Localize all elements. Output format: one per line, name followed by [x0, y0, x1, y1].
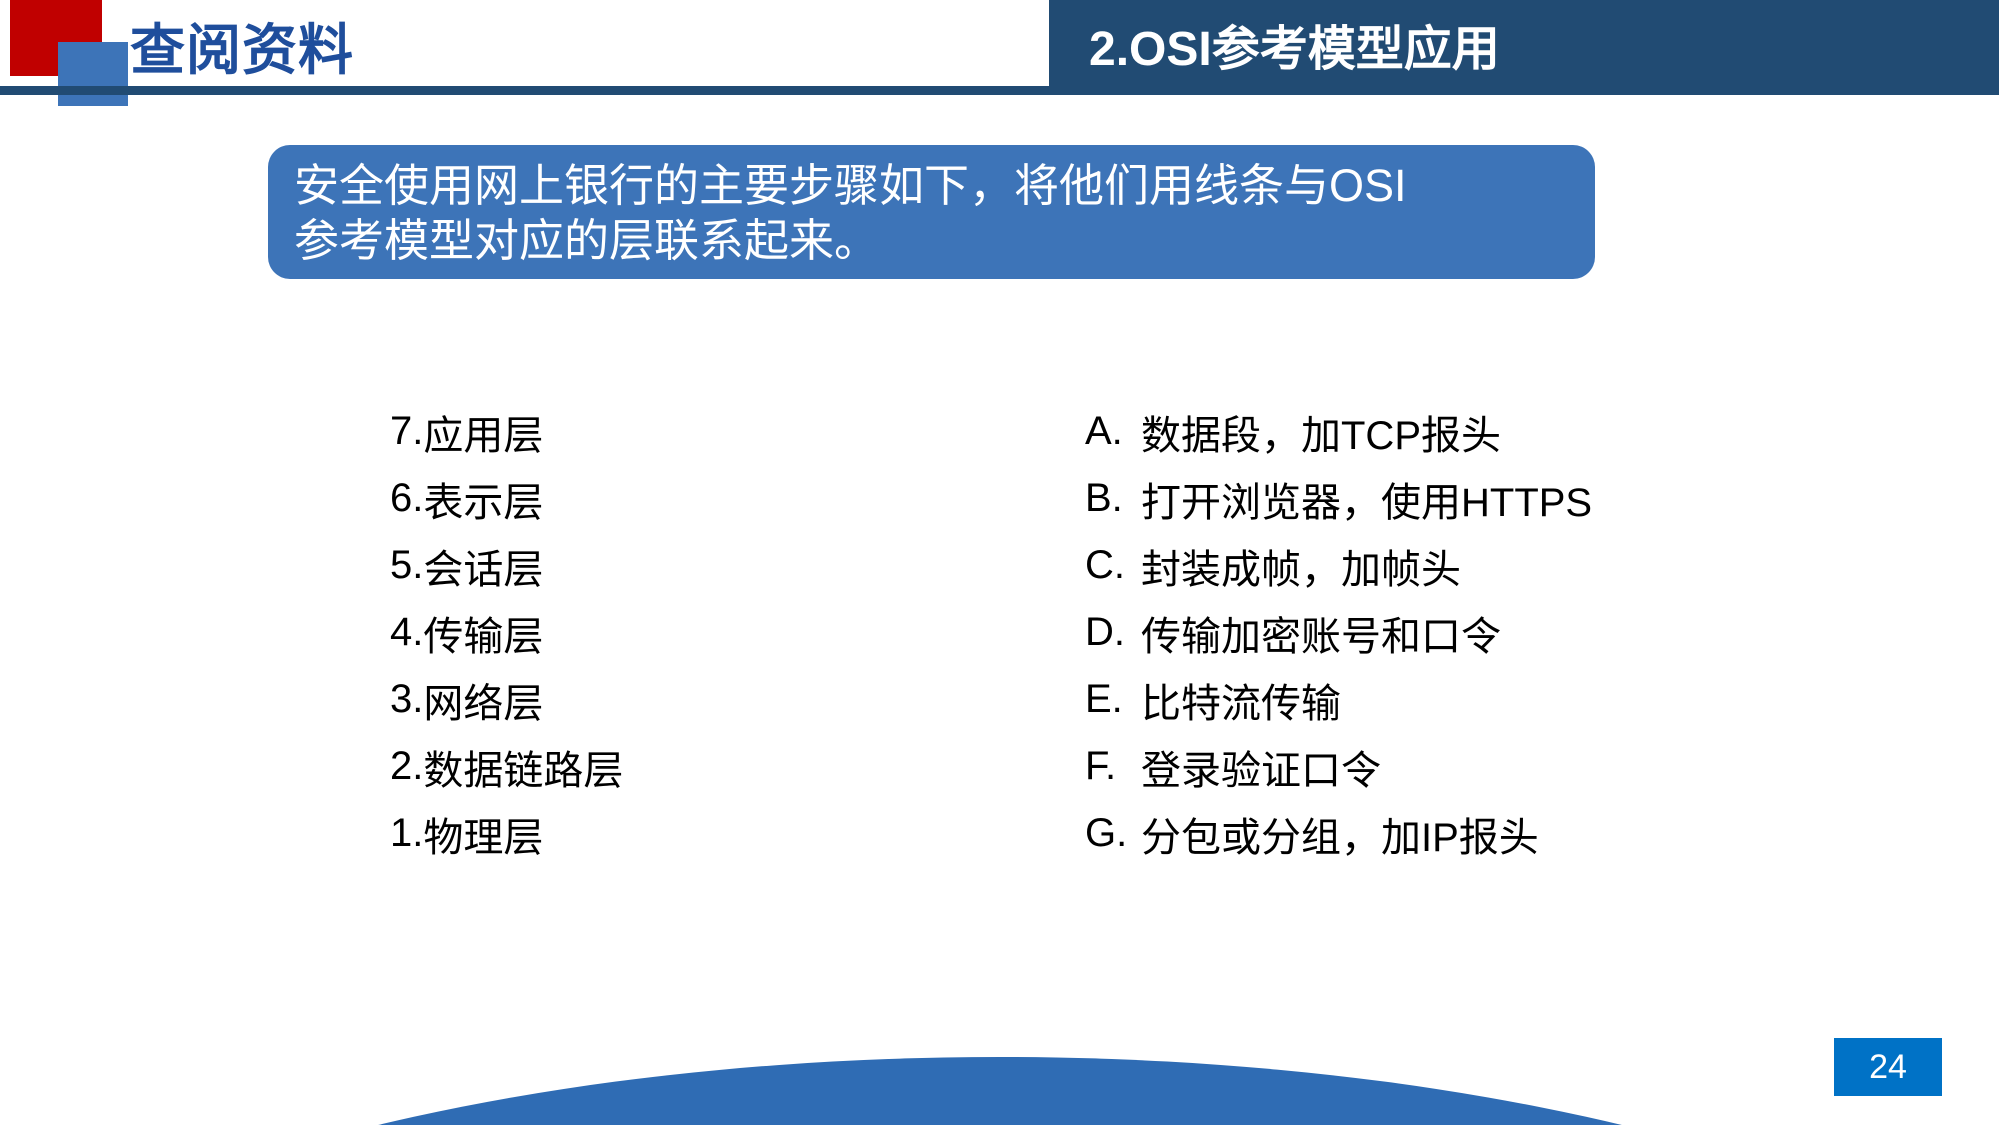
list-item-label: 网络层: [423, 671, 543, 729]
list-item-label: 封装成帧，加帧头: [1141, 537, 1461, 595]
list-item[interactable]: 4. 传输层: [390, 599, 1010, 666]
list-item-marker: A.: [1085, 409, 1141, 454]
list-item-marker: D.: [1085, 610, 1141, 655]
list-item-label: 传输层: [423, 604, 543, 662]
page-number-badge: 24: [1834, 1038, 1942, 1096]
list-item[interactable]: D. 传输加密账号和口令: [1085, 599, 1885, 666]
list-item-label: 会话层: [423, 537, 543, 595]
instruction-callout: 安全使用网上银行的主要步骤如下，将他们用线条与OSI 参考模型对应的层联系起来。: [268, 145, 1595, 279]
list-item-marker: 7.: [390, 409, 423, 454]
list-item-marker: 1.: [390, 811, 423, 856]
header-banner: 2.OSI参考模型应用: [1049, 0, 1999, 88]
list-item-label: 数据链路层: [423, 738, 623, 796]
list-item-label: 登录验证口令: [1141, 738, 1381, 796]
step-option-column: A. 数据段，加TCP报头 B. 打开浏览器，使用HTTPS C. 封装成帧，加…: [1085, 398, 1885, 867]
list-item-label: 数据段，加TCP报头: [1141, 403, 1501, 461]
header-divider: [0, 86, 1999, 95]
list-item-marker: E.: [1085, 677, 1141, 722]
instruction-line-2: 参考模型对应的层联系起来。: [294, 214, 1569, 269]
list-item[interactable]: 2. 数据链路层: [390, 733, 1010, 800]
list-item[interactable]: A. 数据段，加TCP报头: [1085, 398, 1885, 465]
list-item-label: 表示层: [423, 470, 543, 528]
list-item-marker: 4.: [390, 610, 423, 655]
list-item-marker: G.: [1085, 811, 1141, 856]
list-item-label: 传输加密账号和口令: [1141, 604, 1501, 662]
list-item-label: 打开浏览器，使用HTTPS: [1141, 470, 1592, 528]
decor-blue-square-icon: [58, 42, 128, 106]
list-item-marker: B.: [1085, 476, 1141, 521]
list-item[interactable]: 3. 网络层: [390, 666, 1010, 733]
list-item[interactable]: B. 打开浏览器，使用HTTPS: [1085, 465, 1885, 532]
osi-layer-column: 7. 应用层 6. 表示层 5. 会话层 4. 传输层 3. 网络层 2. 数据…: [390, 398, 1010, 867]
header-banner-title: 2.OSI参考模型应用: [1089, 0, 1500, 88]
list-item-label: 应用层: [423, 403, 543, 461]
list-item[interactable]: 5. 会话层: [390, 532, 1010, 599]
list-item[interactable]: E. 比特流传输: [1085, 666, 1885, 733]
list-item[interactable]: 7. 应用层: [390, 398, 1010, 465]
list-item-marker: 6.: [390, 476, 423, 521]
list-item-marker: F.: [1085, 744, 1141, 789]
decor-bottom-arc: [0, 1057, 1999, 1125]
list-item-label: 比特流传输: [1141, 671, 1341, 729]
list-item[interactable]: C. 封装成帧，加帧头: [1085, 532, 1885, 599]
list-item-label: 物理层: [423, 805, 543, 863]
list-item-marker: 5.: [390, 543, 423, 588]
list-item-marker: 3.: [390, 677, 423, 722]
list-item[interactable]: F. 登录验证口令: [1085, 733, 1885, 800]
slide-canvas: 查阅资料 2.OSI参考模型应用 安全使用网上银行的主要步骤如下，将他们用线条与…: [0, 0, 1999, 1125]
list-item-label: 分包或分组，加IP报头: [1141, 805, 1539, 863]
list-item-marker: C.: [1085, 543, 1141, 588]
list-item[interactable]: 6. 表示层: [390, 465, 1010, 532]
instruction-line-1: 安全使用网上银行的主要步骤如下，将他们用线条与OSI: [294, 159, 1569, 214]
list-item-marker: 2.: [390, 744, 423, 789]
list-item[interactable]: 1. 物理层: [390, 800, 1010, 867]
list-item[interactable]: G. 分包或分组，加IP报头: [1085, 800, 1885, 867]
page-title: 查阅资料: [130, 6, 354, 84]
